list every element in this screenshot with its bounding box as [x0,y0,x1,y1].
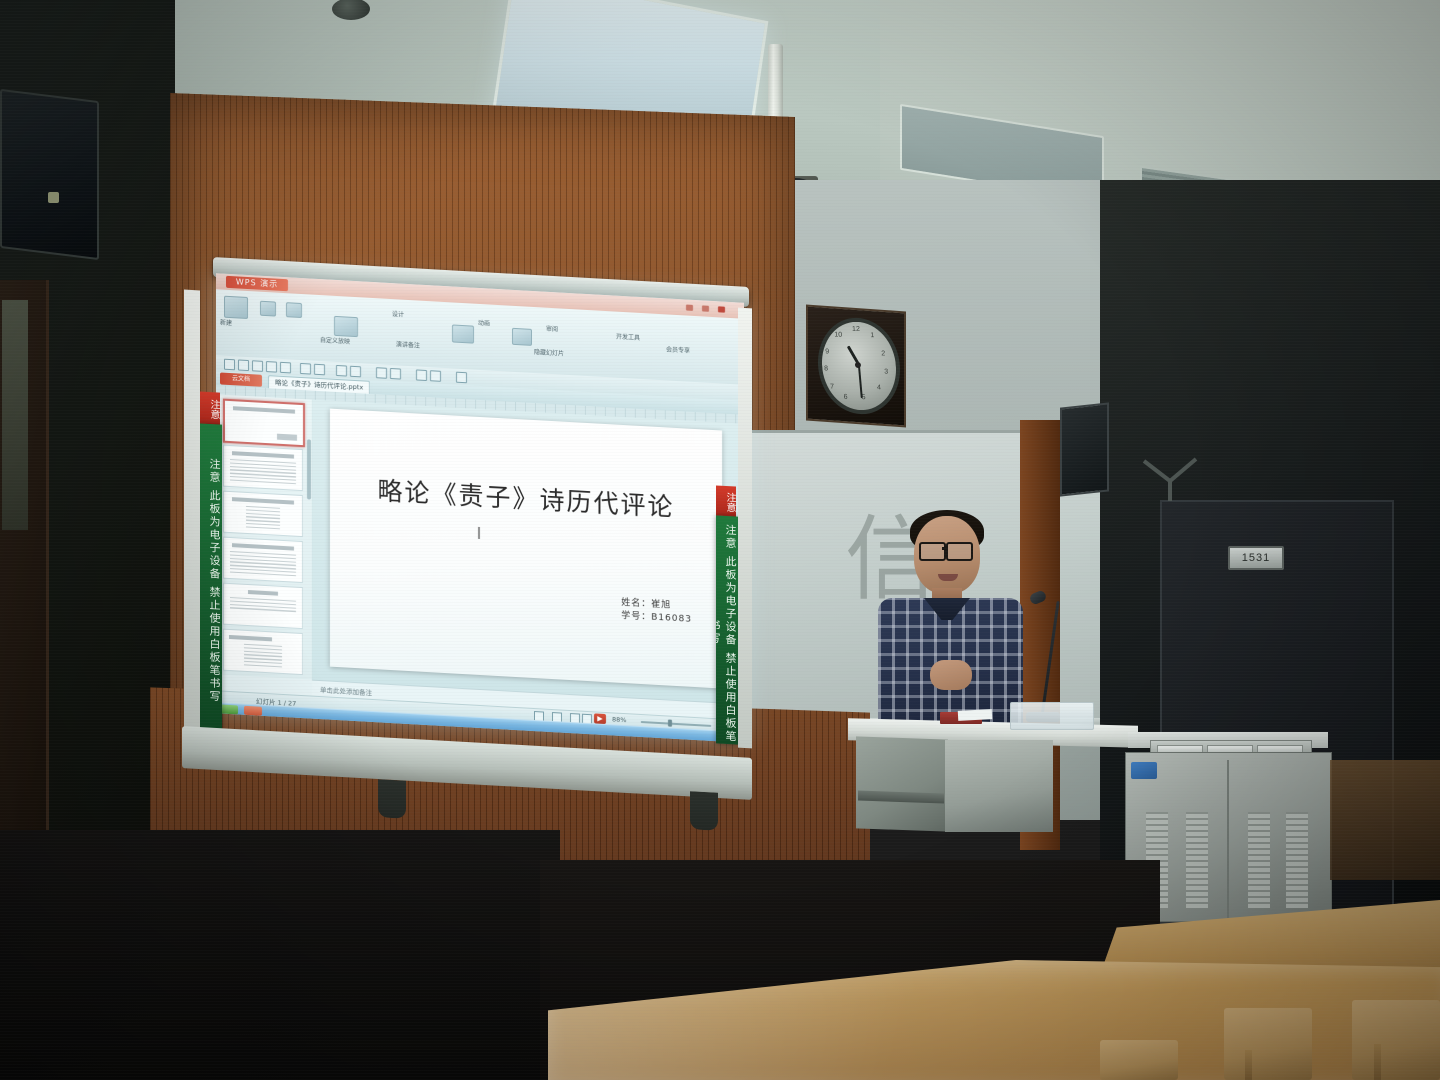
ribbon-tab-member[interactable]: 会员专享 [666,344,690,354]
close-button[interactable] [718,306,725,312]
left-door-window [2,300,28,530]
clock-numeral: 10 [834,332,842,339]
screen-right-edge [738,308,752,749]
zoom-in-icon[interactable] [456,372,467,384]
cloud-doc-badge[interactable]: 云文档 [220,372,262,386]
maximize-button[interactable] [702,305,709,311]
presenter-hands [930,660,972,690]
lectern-body [856,736,948,831]
projection-screen-surface: WPS 演示 新建 自定义放映 设计 演讲备注 动画 隐藏幻灯片 审阅 [216,273,744,743]
clock-numeral: 7 [830,384,834,391]
wps-presentation-window: WPS 演示 新建 自定义放映 设计 演讲备注 动画 隐藏幻灯片 审阅 [216,273,744,743]
wall-speaker-right [1060,402,1109,496]
back-cabinet [1330,760,1440,880]
thumbnail-body-lines [230,551,296,577]
save-icon[interactable] [224,359,235,371]
list-item[interactable] [223,537,303,583]
screen-weight-left [378,779,406,819]
clock-numeral: 3 [884,368,888,375]
ribbon-group-new: 新建 [220,317,232,327]
warning-banner-right: 注意 此板为电子设备 禁止使用白板笔书写 [716,515,738,744]
minimize-button[interactable] [686,305,693,311]
zoom-slider-knob[interactable] [668,720,672,727]
list-item[interactable] [223,583,303,629]
clock-numeral: 6 [843,394,847,401]
clock-minute-hand [858,366,863,398]
presenter [872,510,1032,740]
lectern-front-panel [945,740,1053,832]
cabinet-vent-slots [1286,812,1308,908]
thumbnail-title-bar [233,406,295,413]
chair [1100,1040,1178,1080]
ribbon-tab-design[interactable]: 设计 [392,309,404,319]
ribbon-tab-review[interactable]: 审阅 [546,324,558,334]
thumbnail-scrollbar[interactable] [307,439,311,499]
start-slideshow-button[interactable]: ▶ [594,713,606,724]
clock-numeral: 8 [824,365,828,372]
wall-speaker-left [0,89,99,260]
wps-logo: WPS 演示 [226,276,288,291]
text-cursor [478,527,480,539]
clock-numeral: 9 [825,348,829,355]
ribbon-group-custom-show: 自定义放映 [320,335,350,346]
cabinet-vent-slots [1186,812,1208,908]
thumbnail-title-bar [229,635,272,641]
ribbon-group-hide-slide: 隐藏幻灯片 [534,347,564,358]
chair-leg [1374,1044,1381,1080]
preview-icon[interactable] [252,360,263,372]
line-color-icon[interactable] [430,370,441,382]
paper-on-lectern [958,709,992,721]
start-button[interactable] [220,704,238,714]
classroom-photo: 信 1531 WPS 演示 新建 自定义放 [0,0,1440,1080]
clock-numeral: 12 [852,326,860,333]
thumbnail-body-lines [230,597,296,613]
thumbnail-body-lines [230,459,296,485]
print-icon[interactable] [238,359,249,371]
thumbnail-body-lines [246,506,280,530]
floor-left [0,830,560,1080]
chair [1224,1008,1312,1080]
ribbon-icon-new[interactable] [224,296,248,319]
eyeglasses-icon [946,542,973,561]
thumbnail-author-bar [277,434,297,441]
copy-icon[interactable] [280,362,291,374]
arrange-icon[interactable] [390,368,401,380]
list-item[interactable] [223,629,303,675]
eyeglasses-bridge [942,547,948,550]
speaker-led-icon [48,192,59,203]
fill-color-icon[interactable] [416,369,427,381]
insert-shape-icon[interactable] [336,365,347,377]
paint-icon[interactable] [266,361,277,373]
insert-text-icon[interactable] [350,366,361,378]
clock-numeral: 4 [877,384,881,391]
thumbnail-title-bar [248,590,278,596]
warning-tag-right: 注意 [716,485,736,518]
taskbar-wps-presentation[interactable] [244,706,262,716]
chair [1352,1000,1440,1080]
ribbon-icon-from-current[interactable] [260,301,276,317]
thumbnail-body-lines [244,644,282,668]
thumbnail-title-bar [232,497,294,504]
ribbon-icon-rehearse[interactable] [452,324,474,343]
ribbon-icon-custom-show[interactable] [286,302,302,318]
wall-bracket [1140,455,1200,505]
clock-numeral: 1 [870,332,874,339]
align-icon[interactable] [376,367,387,379]
list-item[interactable] [223,445,303,491]
warning-tag-left: 注意 [198,391,220,426]
slide-editing-area[interactable]: 略论《责子》诗历代评论 姓名：崔旭 学号：B16083 [312,400,744,704]
bracket-shape-icon [1140,455,1200,505]
screen-left-edge [184,290,200,741]
list-item[interactable] [223,491,303,537]
slide-author-block[interactable]: 姓名：崔旭 学号：B16083 [621,597,692,627]
undo-icon[interactable] [300,363,311,375]
cabinet-door-split [1227,760,1229,918]
student-id: 学号：B16083 [621,610,692,627]
redo-icon[interactable] [314,364,325,376]
ribbon-tab-devtools[interactable]: 开发工具 [616,332,640,342]
list-item[interactable] [223,399,305,448]
slide-title[interactable]: 略论《责子》诗历代评论 [360,470,692,525]
chair-leg [1245,1050,1252,1080]
slide-thumbnail-pane[interactable]: 1 2 3 4 5 6 [216,394,313,679]
clock-center-pin [855,362,861,368]
screen-weight-right [690,791,718,831]
ribbon-group-notes: 演讲备注 [396,339,420,349]
ribbon-tab-animation[interactable]: 动画 [478,318,490,328]
thumbnail-title-bar [232,451,294,458]
zoom-level-label: 88% [612,715,626,724]
ribbon-icon-setup-show[interactable] [512,328,532,346]
room-number-plate: 1531 [1228,546,1284,570]
ribbon-icon-presenter-view[interactable] [334,316,358,337]
plastic-tray [1010,702,1094,730]
cabinet-vent-slots [1248,812,1270,908]
warning-banner-left: 注意 此板为电子设备 禁止使用白板笔书写 [198,423,222,730]
eyeglasses-icon [919,542,946,561]
current-slide[interactable]: 略论《责子》诗历代评论 姓名：崔旭 学号：B16083 [330,409,722,689]
thumbnail-title-bar [232,543,294,550]
cabinet-label [1131,762,1157,779]
clock-numeral: 2 [881,350,885,357]
